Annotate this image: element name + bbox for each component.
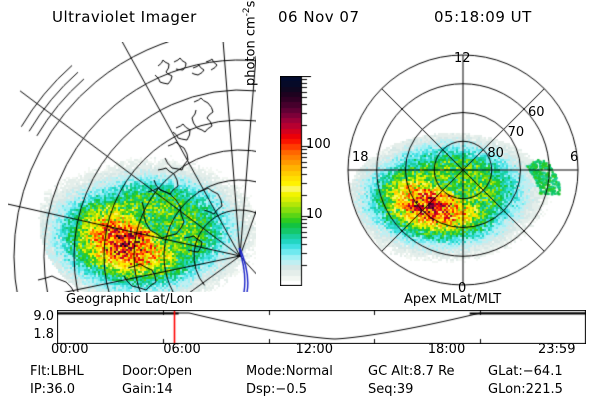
mlat-label-80: 80 — [487, 146, 504, 161]
status-door: Door: Open — [122, 364, 192, 379]
orbit-xtick-2: 12:00 — [296, 342, 333, 357]
orbit-ytick-low: 1.8 — [14, 327, 54, 342]
orbit-altitude-panel: GC Alt 9.0 1.8 00:00 06:00 12:00 18:00 2… — [0, 306, 600, 358]
status-key: GLon: — [488, 382, 526, 397]
status-block: Flt: LBHLDoor: OpenMode: NormalGC Alt: 8… — [0, 364, 600, 400]
status-value: 36.0 — [46, 382, 75, 397]
status-dsp: Dsp: −0.5 — [246, 382, 307, 397]
colorbar-scale — [280, 76, 316, 286]
geographic-aurora-canvas — [8, 42, 256, 292]
colorbar-tick-10: 10 — [306, 207, 323, 222]
orbit-xtick-1: 06:00 — [163, 342, 200, 357]
status-value: 221.5 — [526, 382, 563, 397]
status-flt: Flt: LBHL — [30, 364, 84, 379]
status-glon: GLon: 221.5 — [488, 382, 563, 397]
apex-panel-caption: Apex MLat/MLT — [404, 292, 501, 307]
apex-aurora-canvas — [332, 42, 594, 298]
orbit-xtick-0: 00:00 — [51, 342, 88, 357]
geographic-panel-caption: Geographic Lat/Lon — [66, 292, 193, 307]
status-key: GLat: — [488, 364, 523, 379]
status-key: Seq: — [368, 382, 397, 397]
status-key: Gain: — [122, 382, 156, 397]
status-value: 14 — [156, 382, 173, 397]
status-value: −0.5 — [275, 382, 307, 397]
status-value: Open — [157, 364, 192, 379]
uvi-display: Ultraviolet Imager 06 Nov 07 05:18:09 UT… — [0, 0, 600, 400]
orbit-ytick-high: 9.0 — [14, 309, 54, 324]
status-key: Door: — [122, 364, 157, 379]
status-glat: GLat: −64.1 — [488, 364, 563, 379]
status-ip: IP: 36.0 — [30, 382, 75, 397]
status-gain: Gain: 14 — [122, 382, 173, 397]
mlt-label-6: 6 — [570, 150, 578, 165]
mlt-label-12: 12 — [454, 51, 471, 66]
orbit-y-axis-label: GC Alt — [0, 296, 3, 356]
orbit-xtick-3: 18:00 — [428, 342, 465, 357]
mlat-label-60: 60 — [528, 105, 545, 120]
status-value: LBHL — [51, 364, 84, 379]
status-gc-alt: GC Alt: 8.7 Re — [368, 364, 455, 379]
status-value: −64.1 — [523, 364, 563, 379]
geographic-image-panel — [8, 42, 256, 292]
status-value: Normal — [286, 364, 333, 379]
orbit-plot-area — [57, 310, 586, 344]
status-value: 8.7 Re — [413, 364, 454, 379]
header-bar: Ultraviolet Imager 06 Nov 07 05:18:09 UT — [0, 6, 600, 32]
colorbar-axis-label: photon cm-2s-1 — [242, 0, 258, 86]
status-key: IP: — [30, 382, 46, 397]
status-mode: Mode: Normal — [246, 364, 333, 379]
status-key: GC Alt: — [368, 364, 413, 379]
observation-time: 05:18:09 UT — [434, 8, 532, 26]
status-seq: Seq: 39 — [368, 382, 413, 397]
status-key: Mode: — [246, 364, 286, 379]
colorbar-panel: photon cm-2s-1 100 10 — [258, 44, 332, 294]
status-key: Dsp: — [246, 382, 275, 397]
mlat-label-70: 70 — [508, 125, 525, 140]
status-key: Flt: — [30, 364, 51, 379]
instrument-title: Ultraviolet Imager — [52, 8, 197, 26]
orbit-xtick-4: 23:59 — [538, 342, 575, 357]
observation-date: 06 Nov 07 — [278, 8, 360, 26]
status-value: 39 — [397, 382, 414, 397]
apex-polar-panel: 12 6 0 18 60 70 80 — [332, 42, 594, 298]
orbit-altitude-trace — [57, 310, 586, 344]
mlt-label-18: 18 — [352, 150, 369, 165]
colorbar-tick-100: 100 — [306, 137, 331, 152]
